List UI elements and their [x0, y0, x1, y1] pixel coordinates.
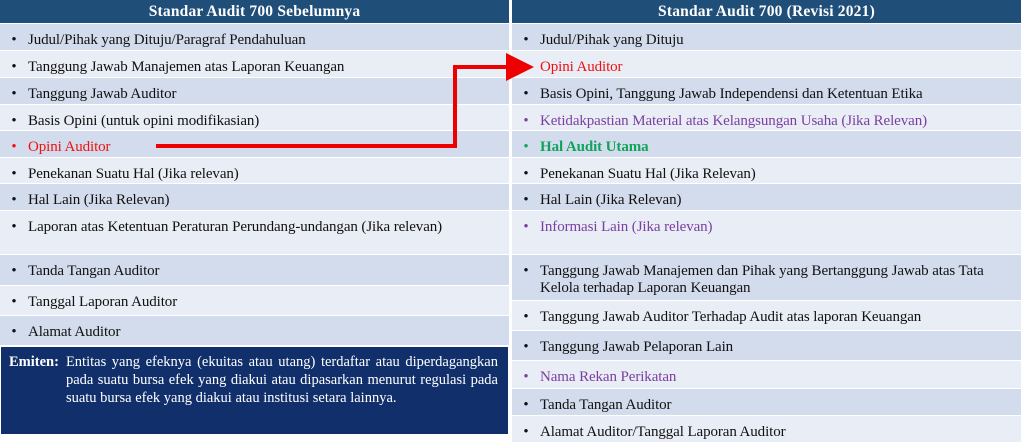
bullet-icon: •: [0, 211, 28, 235]
table-row: •Ketidakpastian Material atas Kelangsung…: [512, 105, 1021, 131]
table-row: •Basis Opini, Tanggung Jawab Independens…: [512, 78, 1021, 105]
bullet-icon: •: [0, 286, 28, 310]
bullet-icon: •: [512, 331, 540, 355]
table-row: •Informasi Lain (Jika relevan): [512, 211, 1021, 255]
table-row: •Hal Audit Utama: [512, 131, 1021, 158]
right-row-list: •Judul/Pihak yang Dituju•Opini Auditor•B…: [512, 24, 1021, 443]
emiten-definition-callout: Emiten:Entitas yang efeknya (ekuitas ata…: [0, 346, 509, 435]
bullet-icon: •: [512, 389, 540, 413]
table-row: •Tanggung Jawab Auditor: [0, 78, 509, 105]
row-label: Opini Auditor: [540, 51, 1021, 76]
row-label: Penekanan Suatu Hal (Jika Relevan): [540, 158, 1021, 183]
row-label: Tanggal Laporan Auditor: [28, 286, 509, 311]
bullet-icon: •: [512, 416, 540, 440]
row-label: Laporan atas Ketentuan Peraturan Perunda…: [28, 211, 509, 236]
table-row: •Opini Auditor: [512, 51, 1021, 78]
table-row: •Tanggung Jawab Manajemen atas Laporan K…: [0, 51, 509, 78]
table-row: •Opini Auditor: [0, 131, 509, 158]
bullet-icon: •: [0, 316, 28, 340]
row-label: Basis Opini (untuk opini modifikasian): [28, 105, 509, 130]
row-label: Penekanan Suatu Hal (Jika relevan): [28, 158, 509, 183]
bullet-icon: •: [0, 78, 28, 102]
row-label: Hal Audit Utama: [540, 131, 1021, 156]
row-label: Informasi Lain (Jika relevan): [540, 211, 1021, 236]
bullet-icon: •: [512, 51, 540, 75]
row-label: Basis Opini, Tanggung Jawab Independensi…: [540, 78, 1021, 103]
table-row: •Tanggal Laporan Auditor: [0, 286, 509, 316]
left-row-list: •Judul/Pihak yang Dituju/Paragraf Pendah…: [0, 24, 509, 435]
row-label: Tanggung Jawab Manajemen atas Laporan Ke…: [28, 51, 509, 76]
bullet-icon: •: [0, 51, 28, 75]
column-header-previous: Standar Audit 700 Sebelumnya: [0, 0, 509, 24]
row-label: Tanggung Jawab Pelaporan Lain: [540, 331, 1021, 356]
table-row: •Tanda Tangan Auditor: [512, 389, 1021, 416]
bullet-icon: •: [512, 184, 540, 208]
column-header-revised: Standar Audit 700 (Revisi 2021): [512, 0, 1021, 24]
table-row: •Nama Rekan Perikatan: [512, 361, 1021, 389]
bullet-icon: •: [0, 184, 28, 208]
table-row: •Tanggung Jawab Pelaporan Lain: [512, 331, 1021, 361]
column-revised-standard: Standar Audit 700 (Revisi 2021) •Judul/P…: [512, 0, 1021, 440]
table-row: •Tanggung Jawab Auditor Terhadap Audit a…: [512, 301, 1021, 331]
bullet-icon: •: [512, 158, 540, 182]
bullet-icon: •: [512, 301, 540, 325]
row-label: Tanggung Jawab Auditor Terhadap Audit at…: [540, 301, 1021, 326]
table-row: •Penekanan Suatu Hal (Jika relevan): [0, 158, 509, 184]
table-row: •Alamat Auditor/Tanggal Laporan Auditor: [512, 416, 1021, 443]
row-label: Hal Lain (Jika Relevan): [28, 184, 509, 209]
table-row: •Alamat Auditor: [0, 316, 509, 346]
table-row: •Laporan atas Ketentuan Peraturan Perund…: [0, 211, 509, 255]
bullet-icon: •: [0, 131, 28, 155]
table-row: •Penekanan Suatu Hal (Jika Relevan): [512, 158, 1021, 184]
row-label: Nama Rekan Perikatan: [540, 361, 1021, 386]
table-row: •Tanda Tangan Auditor: [0, 255, 509, 286]
bullet-icon: •: [0, 255, 28, 279]
bullet-icon: •: [0, 158, 28, 182]
table-row: •Hal Lain (Jika Relevan): [0, 184, 509, 211]
row-label: Judul/Pihak yang Dituju/Paragraf Pendahu…: [28, 24, 509, 49]
bullet-icon: •: [512, 78, 540, 102]
comparison-table: Standar Audit 700 Sebelumnya •Judul/Piha…: [0, 0, 1023, 440]
bullet-icon: •: [512, 131, 540, 155]
row-label: Tanda Tangan Auditor: [28, 255, 509, 280]
row-label: Opini Auditor: [28, 131, 509, 156]
table-row: •Basis Opini (untuk opini modifikasian): [0, 105, 509, 131]
bullet-icon: •: [0, 105, 28, 129]
bullet-icon: •: [512, 24, 540, 48]
table-row: •Judul/Pihak yang Dituju: [512, 24, 1021, 51]
row-label: Alamat Auditor: [28, 316, 509, 341]
bullet-icon: •: [0, 24, 28, 48]
bullet-icon: •: [512, 255, 540, 279]
row-label: Hal Lain (Jika Relevan): [540, 184, 1021, 209]
row-label: Tanggung Jawab Manajemen dan Pihak yang …: [540, 255, 1021, 297]
bullet-icon: •: [512, 105, 540, 129]
emiten-label: Emiten:: [9, 353, 66, 371]
table-row: •Judul/Pihak yang Dituju/Paragraf Pendah…: [0, 24, 509, 51]
table-row: •Hal Lain (Jika Relevan): [512, 184, 1021, 211]
column-previous-standard: Standar Audit 700 Sebelumnya •Judul/Piha…: [0, 0, 509, 440]
bullet-icon: •: [512, 211, 540, 235]
row-label: Judul/Pihak yang Dituju: [540, 24, 1021, 49]
table-row: •Tanggung Jawab Manajemen dan Pihak yang…: [512, 255, 1021, 301]
row-label: Tanggung Jawab Auditor: [28, 78, 509, 103]
emiten-body-text: Entitas yang efeknya (ekuitas atau utang…: [66, 353, 498, 407]
bullet-icon: •: [512, 361, 540, 385]
row-label: Alamat Auditor/Tanggal Laporan Auditor: [540, 416, 1021, 441]
row-label: Ketidakpastian Material atas Kelangsunga…: [540, 105, 1021, 130]
row-label: Tanda Tangan Auditor: [540, 389, 1021, 414]
